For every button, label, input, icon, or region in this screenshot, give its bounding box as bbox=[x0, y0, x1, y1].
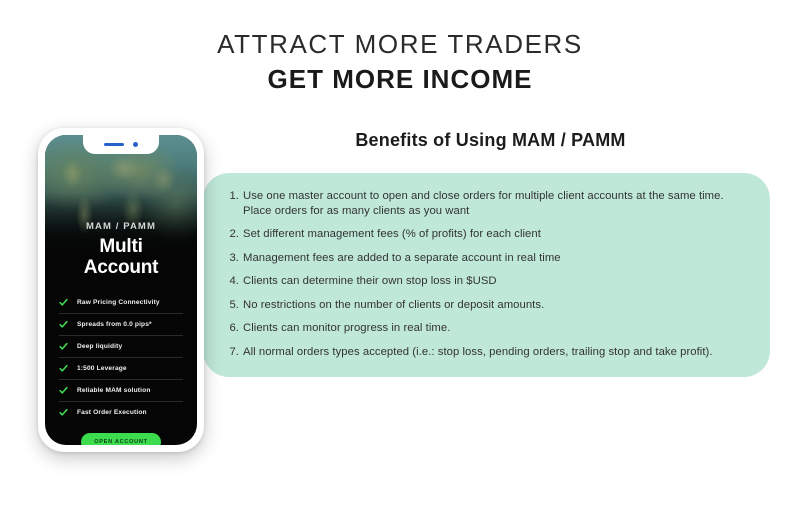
phone-feature-list: Raw Pricing Connectivity Spreads from 0.… bbox=[59, 292, 183, 423]
phone-screen: MAM / PAMM Multi Account Raw Pricing Con… bbox=[45, 135, 197, 445]
check-icon bbox=[59, 408, 68, 417]
phone-title: Multi Account bbox=[84, 236, 159, 278]
check-icon bbox=[59, 298, 68, 307]
benefits-card: Use one master account to open and close… bbox=[203, 173, 770, 377]
camera-icon bbox=[133, 142, 138, 147]
feature-item: Raw Pricing Connectivity bbox=[59, 292, 183, 314]
phone-mockup: MAM / PAMM Multi Account Raw Pricing Con… bbox=[38, 128, 204, 452]
check-icon bbox=[59, 320, 68, 329]
benefit-item: No restrictions on the number of clients… bbox=[243, 298, 746, 313]
phone-content: MAM / PAMM Multi Account Raw Pricing Con… bbox=[45, 135, 197, 445]
headline-line-2: GET MORE INCOME bbox=[0, 63, 800, 95]
phone-notch bbox=[83, 135, 159, 154]
benefit-item: All normal orders types accepted (i.e.: … bbox=[243, 345, 746, 360]
phone-title-line-2: Account bbox=[84, 257, 159, 278]
check-icon bbox=[59, 364, 68, 373]
benefits-list: Use one master account to open and close… bbox=[219, 189, 746, 359]
benefit-item: Clients can determine their own stop los… bbox=[243, 274, 746, 289]
feature-label: Deep liquidity bbox=[77, 343, 122, 350]
feature-item: Spreads from 0.0 pips* bbox=[59, 314, 183, 336]
benefit-item: Clients can monitor progress in real tim… bbox=[243, 321, 746, 336]
feature-label: 1:500 Leverage bbox=[77, 365, 127, 372]
feature-label: Raw Pricing Connectivity bbox=[77, 299, 160, 306]
check-icon bbox=[59, 386, 68, 395]
open-account-button[interactable]: OPEN ACCOUNT bbox=[81, 433, 161, 445]
benefit-item: Management fees are added to a separate … bbox=[243, 251, 746, 266]
feature-label: Spreads from 0.0 pips* bbox=[77, 321, 152, 328]
feature-label: Reliable MAM solution bbox=[77, 387, 151, 394]
feature-item: Fast Order Execution bbox=[59, 402, 183, 423]
feature-item: Deep liquidity bbox=[59, 336, 183, 358]
speaker-icon bbox=[104, 143, 124, 146]
check-icon bbox=[59, 342, 68, 351]
phone-kicker: MAM / PAMM bbox=[86, 221, 156, 232]
cta-container: OPEN ACCOUNT bbox=[45, 433, 197, 445]
feature-item: Reliable MAM solution bbox=[59, 380, 183, 402]
feature-item: 1:500 Leverage bbox=[59, 358, 183, 380]
benefit-item: Use one master account to open and close… bbox=[243, 189, 746, 218]
section-title: Benefits of Using MAM / PAMM bbox=[203, 130, 778, 151]
benefit-item: Set different management fees (% of prof… bbox=[243, 227, 746, 242]
phone-title-line-1: Multi bbox=[99, 236, 142, 257]
page-headline: ATTRACT MORE TRADERS GET MORE INCOME bbox=[0, 28, 800, 95]
headline-line-1: ATTRACT MORE TRADERS bbox=[0, 28, 800, 60]
feature-label: Fast Order Execution bbox=[77, 409, 147, 416]
